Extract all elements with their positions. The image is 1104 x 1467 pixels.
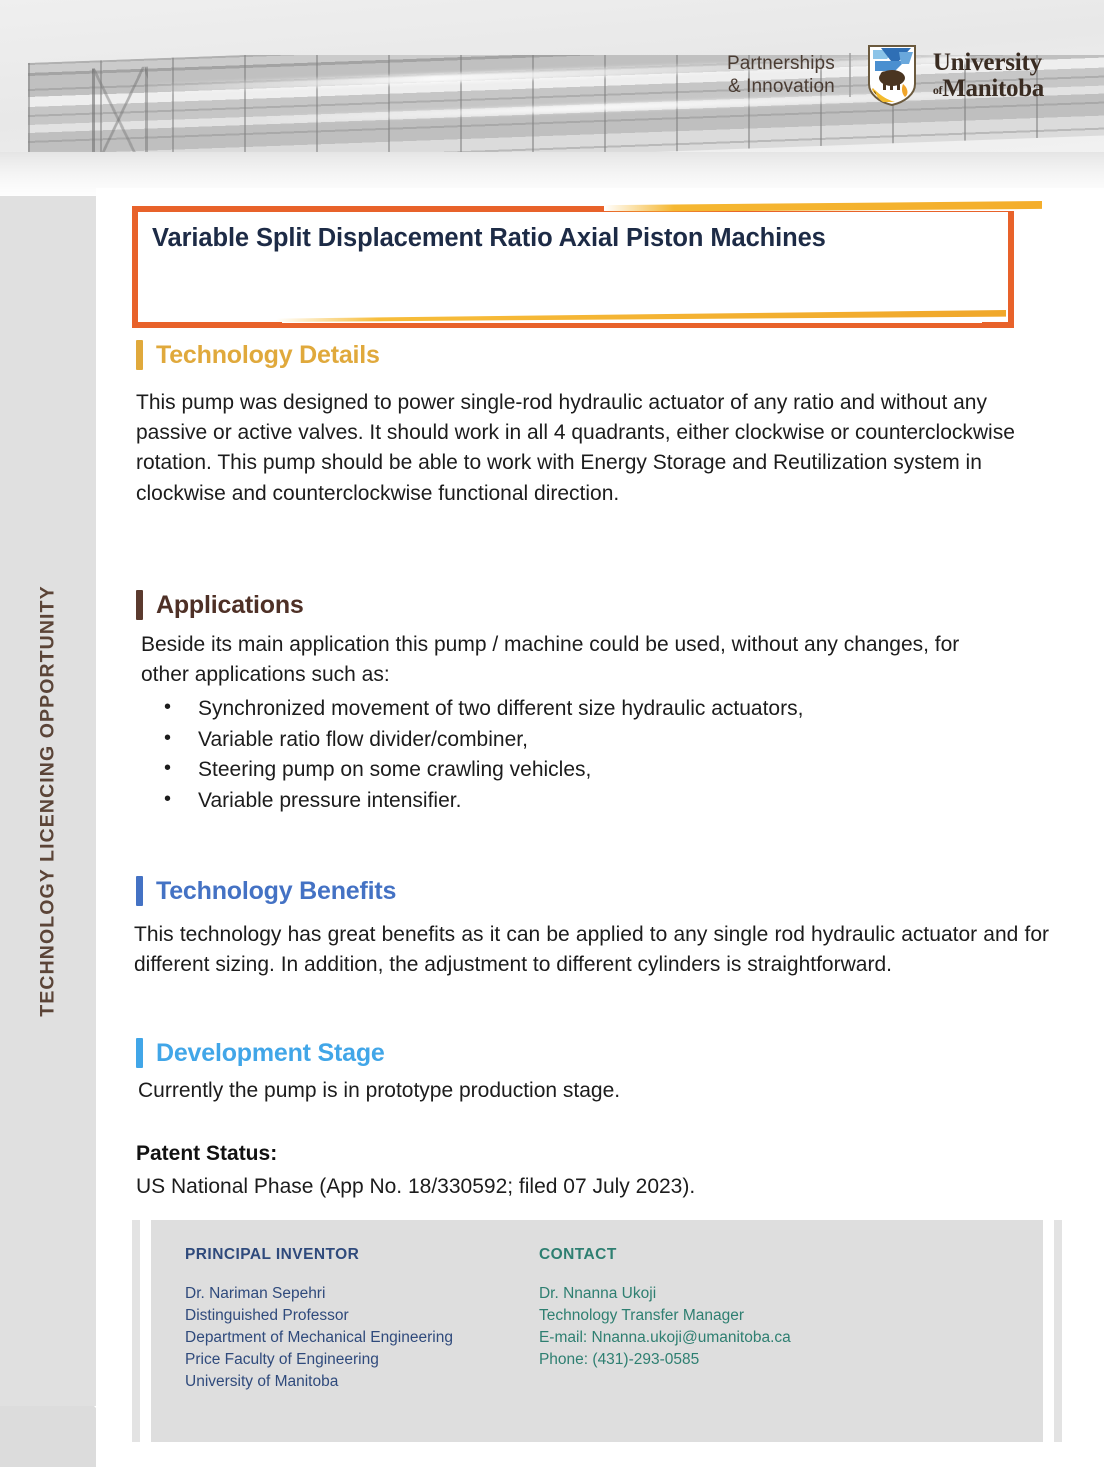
inventor-department: Department of Mechanical Engineering (185, 1327, 453, 1349)
heading-technology-details: Technology Details (136, 340, 1056, 370)
principal-inventor-title: PRINCIPAL INVENTOR (185, 1246, 453, 1264)
partnerships-line-2: & Innovation (727, 75, 835, 98)
contact-phone[interactable]: Phone: (431)-293-0585 (539, 1349, 791, 1371)
university-of-manitoba-wordmark: University ofManitoba (933, 50, 1044, 101)
contact-title: CONTACT (539, 1246, 791, 1264)
section-technology-benefits: Technology Benefits This technology has … (136, 876, 1056, 980)
inventor-institution: University of Manitoba (185, 1371, 453, 1393)
section-applications: Applications Beside its main application… (136, 590, 1056, 816)
body-technology-benefits: This technology has great benefits as it… (134, 920, 1049, 980)
heading-technology-benefits: Technology Benefits (136, 876, 1056, 906)
section-technology-details: Technology Details This pump was designe… (136, 340, 1056, 509)
of-word: of (933, 83, 942, 97)
heading-label-applications: Applications (156, 591, 304, 620)
body-applications: Beside its main application this pump / … (141, 630, 1011, 690)
heading-accent-bar-technology-details (136, 340, 143, 370)
footer-edge-right (1054, 1220, 1062, 1442)
inventor-faculty: Price Faculty of Engineering (185, 1349, 453, 1371)
university-crest-icon (865, 44, 919, 106)
footer-column-contact: CONTACT Dr. Nnanna Ukoji Technology Tran… (453, 1220, 791, 1442)
document-page: Partnerships & Innovation (0, 0, 1104, 1467)
footer-panel-body: PRINCIPAL INVENTOR Dr. Nariman Sepehri D… (151, 1220, 1043, 1442)
heading-label-technology-details: Technology Details (156, 341, 380, 370)
applications-bullet-list: Synchronized movement of two different s… (136, 694, 1056, 816)
heading-accent-bar-technology-benefits (136, 876, 143, 906)
list-item: Synchronized movement of two different s… (136, 694, 1056, 724)
heading-label-technology-benefits: Technology Benefits (156, 877, 396, 906)
list-item: Variable ratio flow divider/combiner, (136, 725, 1056, 755)
section-development-stage: Development Stage Currently the pump is … (136, 1038, 1056, 1106)
body-development-stage: Currently the pump is in prototype produ… (138, 1076, 1056, 1106)
logo-lockup: Partnerships & Innovation (727, 44, 1044, 106)
contact-name: Dr. Nnanna Ukoji (539, 1283, 791, 1305)
list-item: Variable pressure intensifier. (136, 786, 1056, 816)
manitoba-word: ofManitoba (933, 76, 1044, 101)
section-patent-status: Patent Status: US National Phase (App No… (136, 1142, 1056, 1202)
side-label-strip: TECHNOLOGY LICENCING OPPORTUNITY (0, 196, 96, 1406)
footer-edge-left (132, 1220, 140, 1442)
patent-status-label: Patent Status: (136, 1142, 1056, 1166)
body-technology-details: This pump was designed to power single-r… (136, 388, 1046, 509)
side-label-text: TECHNOLOGY LICENCING OPPORTUNITY (37, 585, 60, 1016)
inventor-rank: Distinguished Professor (185, 1305, 453, 1327)
partnerships-innovation-wordmark: Partnerships & Innovation (727, 52, 835, 98)
footer-column-principal-inventor: PRINCIPAL INVENTOR Dr. Nariman Sepehri D… (151, 1220, 453, 1442)
manitoba-text: Manitoba (942, 75, 1044, 102)
contact-role: Technology Transfer Manager (539, 1305, 791, 1327)
partnerships-line-1: Partnerships (727, 52, 835, 75)
footer-contact-panel: PRINCIPAL INVENTOR Dr. Nariman Sepehri D… (132, 1220, 1062, 1442)
page-title: Variable Split Displacement Ratio Axial … (152, 224, 826, 253)
heading-accent-bar-development-stage (136, 1038, 143, 1068)
content-sheet: Variable Split Displacement Ratio Axial … (96, 188, 1104, 1467)
heading-development-stage: Development Stage (136, 1038, 1056, 1068)
logo-divider (849, 53, 851, 97)
heading-label-development-stage: Development Stage (156, 1039, 385, 1068)
header-banner (0, 0, 1104, 212)
heading-applications: Applications (136, 590, 1056, 620)
contact-email[interactable]: E-mail: Nnanna.ukoji@umanitoba.ca (539, 1327, 791, 1349)
heading-accent-bar-applications (136, 590, 143, 620)
patent-status-value: US National Phase (App No. 18/330592; fi… (136, 1172, 1056, 1202)
university-word: University (933, 50, 1044, 75)
inventor-name: Dr. Nariman Sepehri (185, 1283, 453, 1305)
list-item: Steering pump on some crawling vehicles, (136, 755, 1056, 785)
